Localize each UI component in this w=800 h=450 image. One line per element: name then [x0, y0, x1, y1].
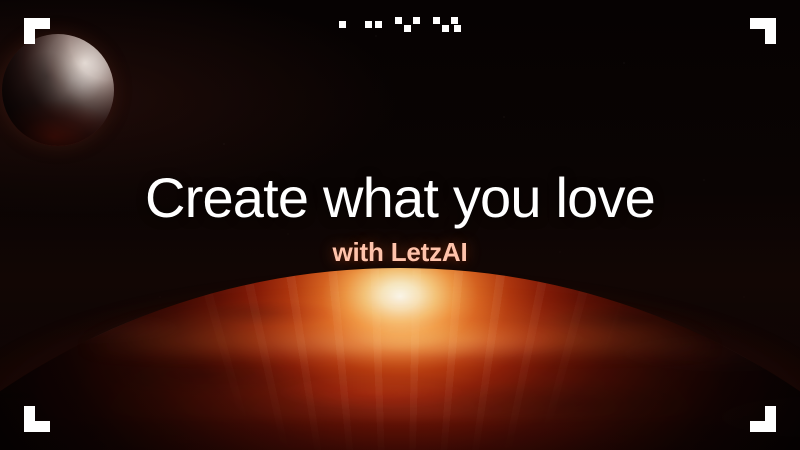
corner-bottom-right-icon [750, 406, 776, 432]
pixel-pattern-cell [442, 25, 449, 32]
pixel-pattern-cell [433, 17, 440, 24]
corner-bottom-left-icon [24, 406, 50, 432]
pixel-pattern-decoration [339, 17, 461, 33]
corner-arm-vertical [765, 18, 776, 44]
corner-arm-vertical [765, 406, 776, 432]
moon-terminator [2, 34, 114, 146]
pixel-pattern-cell [395, 17, 402, 24]
moon-icon [2, 34, 114, 146]
pixel-pattern-cell [404, 25, 411, 32]
starfield [0, 0, 800, 450]
hero-scene: Create what you love with LetzAI [0, 0, 800, 450]
pixel-pattern-cell [365, 21, 372, 28]
corner-top-left-icon [24, 18, 50, 44]
pixel-pattern-cell [339, 21, 346, 28]
pixel-pattern-cell [375, 21, 382, 28]
pixel-pattern-cell [451, 17, 458, 24]
corner-arm-vertical [24, 18, 35, 44]
corner-top-right-icon [750, 18, 776, 44]
corner-arm-vertical [24, 406, 35, 432]
pixel-pattern-cell [413, 17, 420, 24]
pixel-pattern-cell [454, 25, 461, 32]
